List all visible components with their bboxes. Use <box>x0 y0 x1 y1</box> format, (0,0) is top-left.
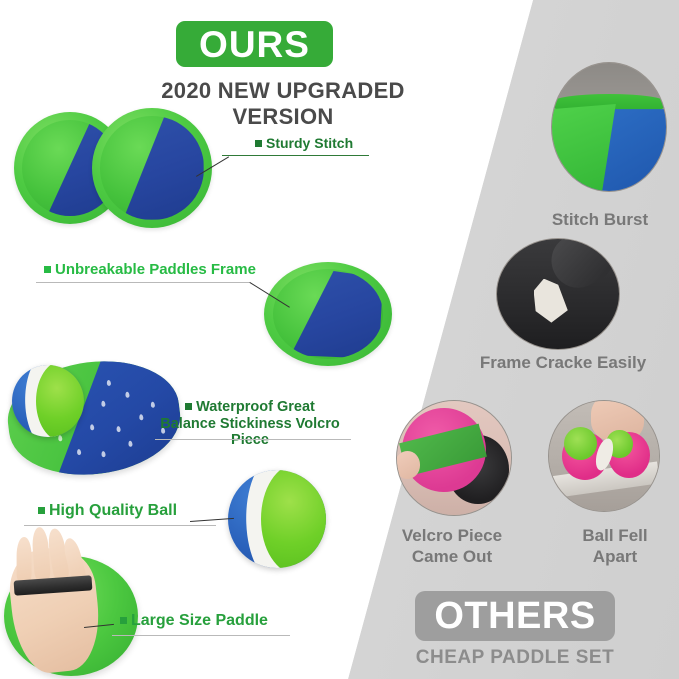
defect-photo-stitch-burst <box>551 62 667 192</box>
finger <box>31 527 51 582</box>
bullet-square-icon <box>120 617 127 624</box>
others-badge: OTHERS <box>415 591 615 641</box>
defect-caption-frame-crack: Frame Cracke Easily <box>446 352 679 373</box>
feature-underline-waterproof-velcro <box>155 439 351 440</box>
feature-underline-sturdy-stitch <box>222 155 369 156</box>
feature-label-text: Unbreakable Paddles Frame <box>55 261 256 278</box>
defect-caption-ball-fell-apart: Ball Fell Apart <box>545 525 679 568</box>
feature-label-text: Large Size Paddle <box>131 612 268 629</box>
others-badge-label: OTHERS <box>434 597 595 635</box>
product-paddle-right <box>92 108 212 228</box>
blue-velcro-patch <box>100 116 203 219</box>
bullet-square-icon <box>44 266 51 273</box>
finger <box>17 537 32 583</box>
feature-label-unbreakable-frame: Unbreakable Paddles Frame <box>44 261 256 278</box>
bullet-square-icon <box>38 507 45 514</box>
others-subtitle: CHEAP PADDLE SET <box>395 647 635 669</box>
infographic-canvas: OURS 2020 NEW UPGRADED VERSION Sturdy St… <box>0 0 679 679</box>
ours-badge-label: OURS <box>199 26 310 63</box>
feature-label-waterproof-velcro: Waterproof Great Balance Stickiness Volc… <box>150 399 350 449</box>
bullet-square-icon <box>255 140 262 147</box>
feature-label-high-quality-ball: High Quality Ball <box>38 502 177 520</box>
ball-green-section <box>36 365 84 437</box>
bullet-square-icon <box>185 403 192 410</box>
product-ball-standalone <box>228 470 326 568</box>
ball-green-section <box>261 470 326 568</box>
feature-label-text-line1: Waterproof Great <box>196 399 315 415</box>
defect-photo-frame-crack <box>496 238 620 350</box>
product-paddle-single <box>264 262 392 366</box>
feature-label-sturdy-stitch: Sturdy Stitch <box>255 135 353 151</box>
ours-badge: OURS <box>176 21 333 67</box>
defect-photo-ball-fell-apart <box>548 400 660 512</box>
defect-caption-stitch-burst: Stitch Burst <box>525 209 675 230</box>
feature-label-text-line2: Balance Stickiness Volcro Piece <box>160 416 339 449</box>
feature-label-text: High Quality Ball <box>49 502 177 519</box>
feature-label-large-size-paddle: Large Size Paddle <box>120 612 268 630</box>
paddle-face <box>273 269 383 358</box>
feature-label-text: Sturdy Stitch <box>266 135 353 151</box>
photo-thumb <box>396 451 420 478</box>
paddle-face <box>100 116 203 219</box>
feature-underline-unbreakable-frame <box>36 282 250 283</box>
product-ball-on-paddle <box>12 365 84 437</box>
defect-photo-velcro-came-out <box>396 400 512 516</box>
blue-velcro-patch <box>273 269 383 358</box>
defect-caption-velcro-came-out: Velcro Piece Came Out <box>372 525 532 568</box>
feature-underline-high-quality-ball <box>24 525 216 526</box>
feature-underline-large-size-paddle <box>112 635 290 636</box>
